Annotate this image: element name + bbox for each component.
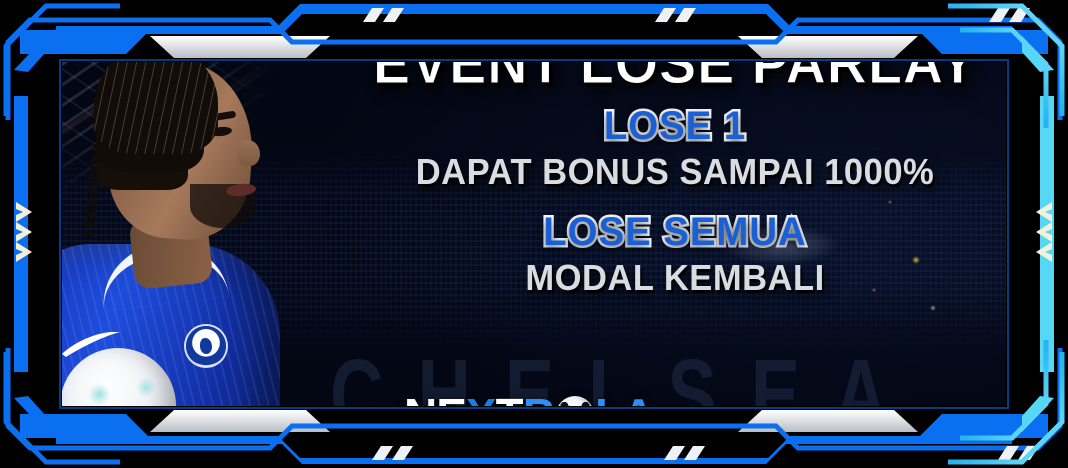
player-braided-hair xyxy=(94,44,218,154)
promo-banner: CHELSEA EVENT LOSE PARLAY LOSE 1 DAPAT B… xyxy=(0,0,1068,468)
headline-block: EVENT LOSE PARLAY LOSE 1 DAPAT BONUS SAM… xyxy=(330,34,1020,297)
logo-text-ne: NE xyxy=(404,388,466,442)
logo-text-t: T xyxy=(496,388,523,442)
logo-text-la: LA xyxy=(595,388,654,442)
brand-logo[interactable]: NE X T B LA xyxy=(404,388,654,442)
headline-title: EVENT LOSE PARLAY xyxy=(344,34,1006,93)
logo-text-b: B xyxy=(523,388,555,442)
chelsea-crest-icon xyxy=(186,326,226,366)
logo-text-x: X xyxy=(466,388,496,442)
player-nose xyxy=(238,140,260,166)
headline-lose-all: LOSE SEMUA xyxy=(344,211,1006,253)
football-icon xyxy=(60,348,176,464)
soccer-ball-icon xyxy=(556,396,594,434)
headline-bonus: DAPAT BONUS SAMPAI 1000% xyxy=(344,153,1006,191)
headline-lose-one: LOSE 1 xyxy=(344,105,1006,147)
player-image xyxy=(14,14,344,454)
headline-refund: MODAL KEMBALI xyxy=(344,259,1006,297)
player-braid-strand xyxy=(83,144,103,237)
